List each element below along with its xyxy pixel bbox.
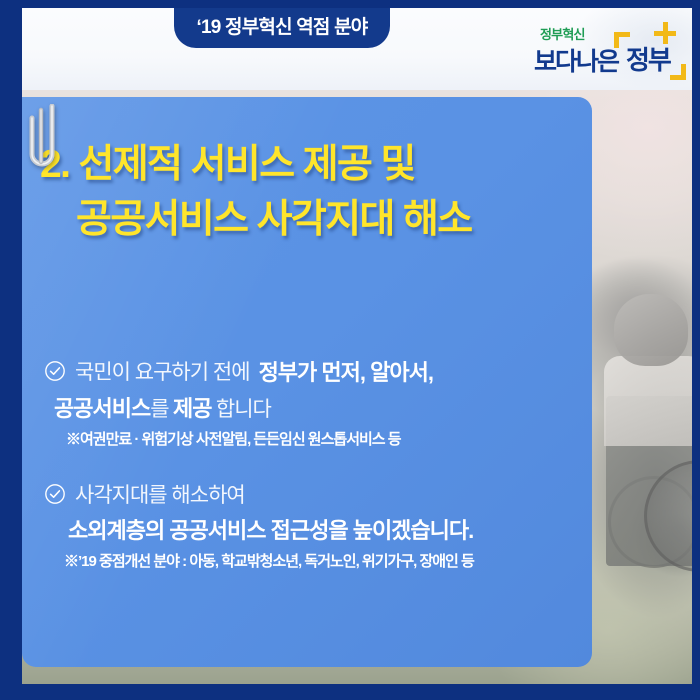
title-line-1: 2. 선제적 서비스 제공 및 [40,137,580,192]
paperclip-icon [22,104,66,178]
page-title: 2. 선제적 서비스 제공 및 공공서비스 사각지대 해소 [40,137,580,248]
bullet-1-note: ※여권만료 · 위험기상 사전알림, 든든임신 원스톱서비스 등 [44,428,592,449]
frame-edge-top [0,0,700,8]
logo-bracket-bottom-right-icon [670,64,686,80]
person-head-shape [614,294,688,366]
bullet-1-particle-2: 합니다 [216,398,271,421]
bullet-2-second-line: 소외계층의 공공서비스 접근성을 높이겠습니다. [44,513,592,545]
bullet-2-bold-text: 소외계층의 공공서비스 접근성을 높이겠습니다. [68,518,473,543]
bullet-1-particle-1: 를 [150,398,168,421]
person-body-shape [604,356,700,446]
frame-edge-bottom [0,686,700,700]
check-circle-icon [44,360,66,382]
badge-label: ‘19 정부혁신 역점 분야 [197,12,368,39]
bullet-list: 국민이 요구하기 전에 정부가 먼저, 알아서, 공공서비스를 제공 합니다 ※… [22,355,592,601]
check-circle-icon [44,483,66,505]
bullet-1-bold-text-2: 공공서비스 [54,396,150,421]
frame-edge-left [0,0,22,700]
title-line-2: 공공서비스 사각지대 해소 [40,192,580,247]
content-panel: 2. 선제적 서비스 제공 및 공공서비스 사각지대 해소 국민이 요구하기 전… [22,97,592,667]
list-item: 국민이 요구하기 전에 정부가 먼저, 알아서, 공공서비스를 제공 합니다 ※… [22,355,592,449]
bullet-first-line: 국민이 요구하기 전에 정부가 먼저, 알아서, [44,355,592,387]
logo-gov-text: 정부 [626,40,670,77]
bullet-2-regular-text: 사각지대를 해소하여 [75,479,245,509]
frame-edge-right [692,0,700,700]
brand-logo: 정부혁신 보다나은 정부 [522,22,682,84]
bullet-1-bold-text: 정부가 먼저, 알아서, [259,355,433,387]
bullet-2-note: ※’19 중점개선 분야 : 아동, 학교밖청소년, 독거노인, 위기가구, 장… [44,550,592,571]
bullet-1-regular-text: 국민이 요구하기 전에 [75,356,250,386]
bullet-1-bold-text-3: 제공 [173,396,211,421]
logo-main-text: 보다나은 [534,42,618,78]
bullet-1-second-line: 공공서비스를 제공 합니다 [44,391,592,423]
infographic-card: ‘19 정부혁신 역점 분야 정부혁신 보다나은 정부 2. 선제적 서비스 제… [0,0,700,700]
bullet-2-first-line: 사각지대를 해소하여 [44,479,592,509]
list-item: 사각지대를 해소하여 소외계층의 공공서비스 접근성을 높이겠습니다. ※’19… [22,479,592,571]
logo-tagline: 정부혁신 [540,24,585,43]
